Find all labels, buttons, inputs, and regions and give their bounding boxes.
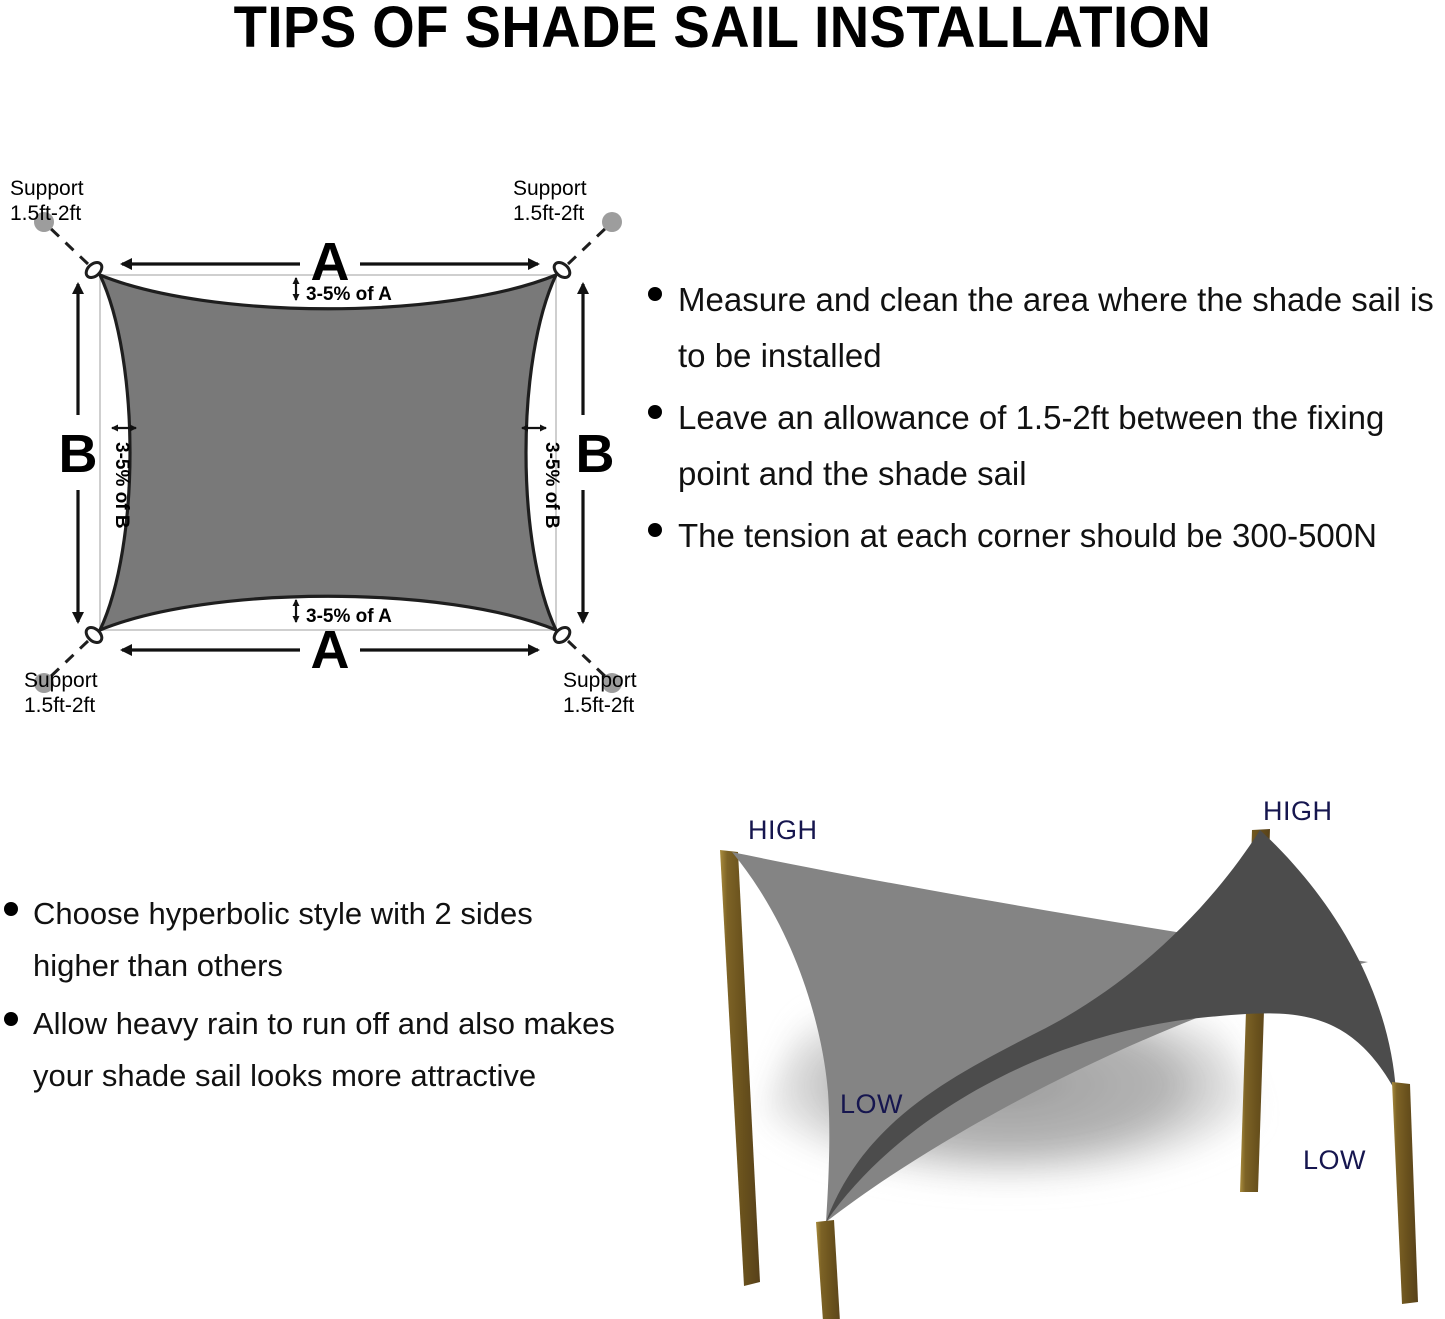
curvature-label-right: 3-5% of B <box>541 442 562 529</box>
support-label-line1: Support <box>563 668 637 693</box>
support-label-bottom-right: Support 1.5ft-2ft <box>563 668 637 718</box>
post-front-right <box>1392 1082 1418 1304</box>
list-item-text: Leave an allowance of 1.5-2ft between th… <box>678 390 1445 502</box>
support-label-top-left: Support 1.5ft-2ft <box>10 176 84 226</box>
dimension-label-a-top: A <box>311 232 350 292</box>
list-item-text: Measure and clean the area where the sha… <box>678 272 1445 384</box>
hyperbolic-sail-svg <box>648 782 1445 1319</box>
list-item-text: The tension at each corner should be 300… <box>678 508 1445 564</box>
support-label-line2: 1.5ft-2ft <box>563 693 637 718</box>
curvature-label-left: 3-5% of B <box>111 442 132 529</box>
dimension-label-b-right: B <box>576 424 615 484</box>
bullet-dot-icon <box>648 405 662 419</box>
dimension-label-b-left: B <box>59 424 98 484</box>
support-label-line2: 1.5ft-2ft <box>10 201 84 226</box>
dimension-label-a-bottom: A <box>311 620 350 680</box>
list-item: Allow heavy rain to run off and also mak… <box>4 998 624 1102</box>
rect-sail-svg: A A B B 3-5% of A 3-5% of A 3-5% of B 3-… <box>0 160 660 730</box>
hyperbolic-style-tips-list: Choose hyperbolic style with 2 sides hig… <box>4 888 624 1108</box>
bullet-dot-icon <box>648 523 662 537</box>
support-dot-top-right <box>602 212 622 232</box>
list-item: Choose hyperbolic style with 2 sides hig… <box>4 888 624 992</box>
support-label-line2: 1.5ft-2ft <box>24 693 98 718</box>
support-label-line1: Support <box>10 176 84 201</box>
label-low-right: LOW <box>1303 1145 1366 1175</box>
bullet-dot-icon <box>4 1012 18 1026</box>
bullet-dot-icon <box>4 902 18 916</box>
curvature-label-top: 3-5% of A <box>306 284 392 305</box>
infographic-page: TIPS OF SHADE SAIL INSTALLATION <box>0 0 1445 1319</box>
installation-tips-list: Measure and clean the area where the sha… <box>648 272 1445 570</box>
list-item-text: Allow heavy rain to run off and also mak… <box>33 998 624 1102</box>
post-back-left <box>720 850 760 1286</box>
post-front-left <box>816 1220 844 1319</box>
page-title: TIPS OF SHADE SAIL INSTALLATION <box>43 0 1401 60</box>
label-high-left: HIGH <box>748 815 818 845</box>
curvature-label-bottom: 3-5% of A <box>306 606 392 627</box>
support-label-line1: Support <box>513 176 587 201</box>
hyperbolic-sail-diagram: HIGH HIGH LOW LOW <box>648 782 1445 1319</box>
rectangular-sail-diagram: A A B B 3-5% of A 3-5% of A 3-5% of B 3-… <box>0 160 660 730</box>
support-label-bottom-left: Support 1.5ft-2ft <box>24 668 98 718</box>
list-item: Measure and clean the area where the sha… <box>648 272 1445 384</box>
list-item-text: Choose hyperbolic style with 2 sides hig… <box>33 888 624 992</box>
list-item: The tension at each corner should be 300… <box>648 508 1445 564</box>
label-high-right: HIGH <box>1263 796 1333 826</box>
support-label-line1: Support <box>24 668 98 693</box>
bullet-dot-icon <box>648 287 662 301</box>
support-label-top-right: Support 1.5ft-2ft <box>513 176 587 226</box>
label-low-left: LOW <box>840 1089 903 1119</box>
support-label-line2: 1.5ft-2ft <box>513 201 587 226</box>
list-item: Leave an allowance of 1.5-2ft between th… <box>648 390 1445 502</box>
sail-body <box>100 275 556 630</box>
